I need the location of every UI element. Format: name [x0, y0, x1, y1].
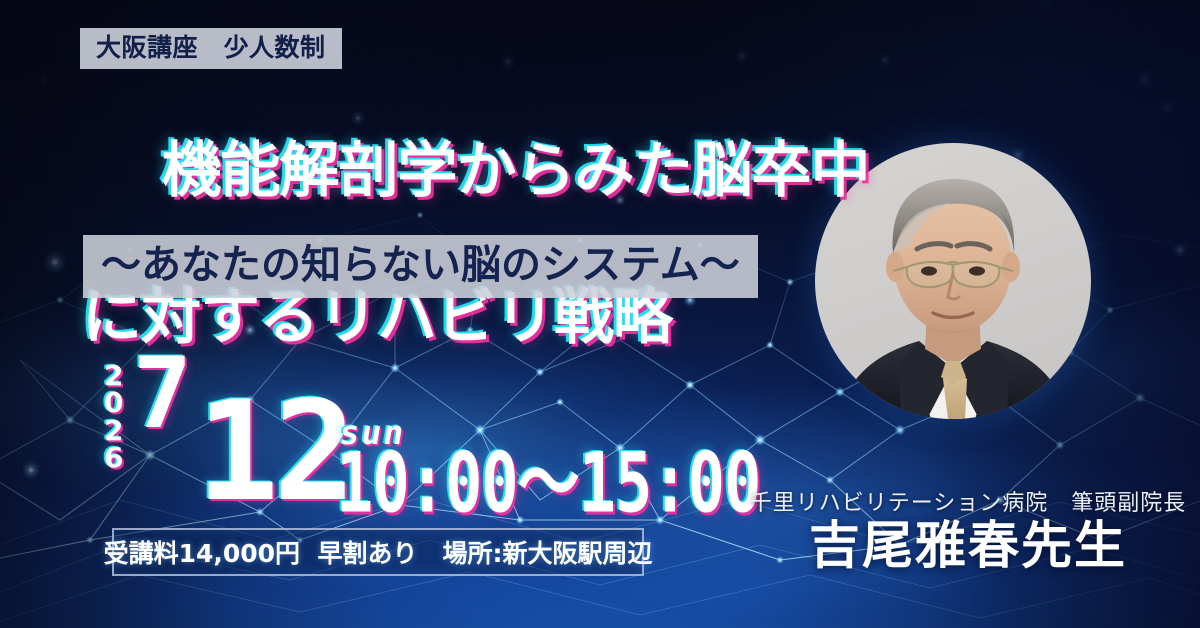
fee-and-venue-bar: 受講料14,000円 早割あり 場所:新大阪駅周辺 — [112, 528, 644, 576]
title-line-1: 機能解剖学からみた脳卒中 — [162, 136, 870, 206]
event-year: 2 0 2 6 — [104, 362, 123, 472]
fee-and-venue-text: 受講料14,000円 早割あり 場所:新大阪駅周辺 — [104, 534, 653, 570]
year-digit-2: 0 — [104, 389, 123, 416]
event-day: 12 — [196, 383, 350, 521]
speaker-organization: 千里リハビリテーション病院 筆頭副院長 — [744, 485, 1192, 517]
speaker-name: 吉尾雅春先生 — [744, 518, 1192, 577]
event-month: 7 — [133, 345, 192, 443]
subtitle-bar: ～あなたの知らない脳のシステム～ — [83, 235, 758, 298]
year-digit-4: 6 — [104, 444, 123, 471]
event-time: 10:00～15:00 — [336, 442, 760, 525]
seminar-banner: 大阪講座 少人数制 機能解剖学からみた脳卒中 に対するリハビリ戦略 ～あなたの知… — [0, 0, 1200, 628]
